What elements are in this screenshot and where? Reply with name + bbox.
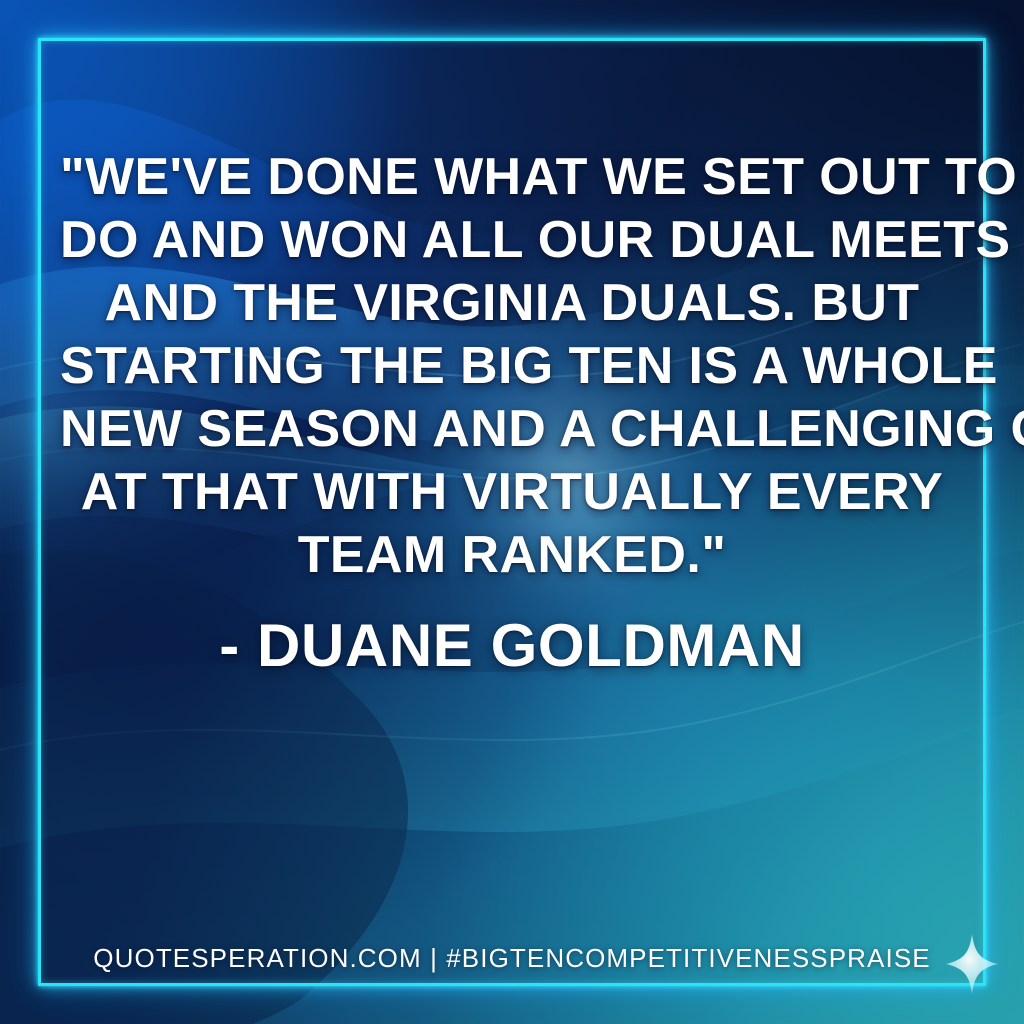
quote-line: DO AND WON ALL OUR DUAL MEETS: [60, 209, 964, 272]
footer-credit-text: QUOTESPERATION.COM | #BIGTENCOMPETITIVEN…: [93, 943, 930, 974]
quote-graphic: "WE'VE DONE WHAT WE SET OUT TO DO AND WO…: [0, 0, 1024, 1024]
quote-line: STARTING THE BIG TEN IS A WHOLE: [60, 335, 964, 398]
footer-bar: QUOTESPERATION.COM | #BIGTENCOMPETITIVEN…: [60, 938, 964, 978]
quote-line: AND THE VIRGINIA DUALS. BUT: [60, 272, 964, 335]
quote-attribution: - DUANE GOLDMAN: [60, 612, 964, 680]
quote-line: TEAM RANKED.": [60, 524, 964, 587]
quote-line: NEW SEASON AND A CHALLENGING ONE: [60, 398, 964, 461]
content-area: "WE'VE DONE WHAT WE SET OUT TO DO AND WO…: [60, 0, 964, 1024]
quote-line: "WE'VE DONE WHAT WE SET OUT TO: [60, 146, 964, 209]
quote-line: AT THAT WITH VIRTUALLY EVERY: [60, 461, 964, 524]
quote-text: "WE'VE DONE WHAT WE SET OUT TO DO AND WO…: [60, 146, 964, 587]
